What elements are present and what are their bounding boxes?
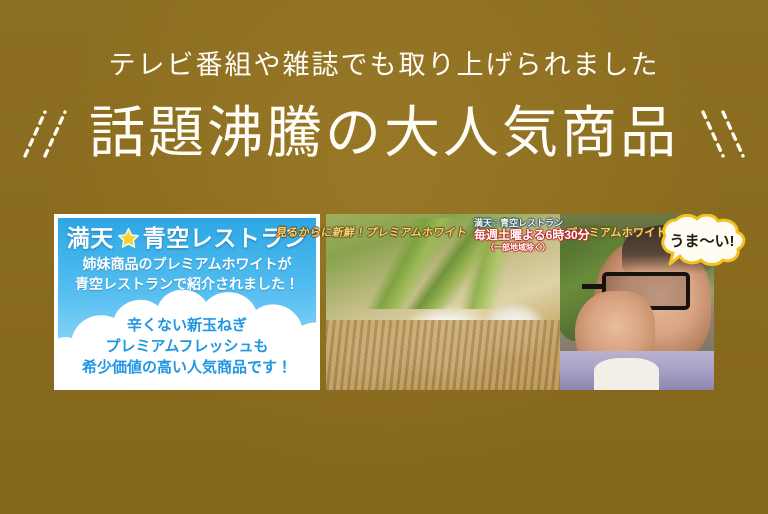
tv-badge-program: 満天☆青空レストラン <box>474 218 562 228</box>
onion-photo-caption: 見るからに新鮮！プレミアムホワイト <box>275 224 469 240</box>
promo-banner: テレビ番組や雑誌でも取り上げられました 話題沸騰の大人気商品 満天 <box>0 0 768 514</box>
bamboo-basket <box>326 320 560 390</box>
person-collar <box>594 358 659 390</box>
program-title-part1: 満天 <box>67 226 114 250</box>
speech-bubble: うま〜い! <box>656 214 748 266</box>
kicker-row: テレビ番組や雑誌でも取り上げられました <box>0 52 768 79</box>
title-row: 話題沸騰の大人気商品 <box>0 104 768 164</box>
tv-badge-time: 毎週土曜よる6時30分 <box>474 229 562 242</box>
panel-subtitle-line1: 姉妹商品のプレミアムホワイトが <box>64 255 310 274</box>
dashed-slash-right-icon <box>697 104 749 164</box>
panel-body-line3: 希少価値の高い人気商品です！ <box>58 357 316 378</box>
panel-subtitle-line2: 青空レストランで紹介されました！ <box>64 275 310 294</box>
program-title: 満天 青空レストラン <box>64 226 310 250</box>
panel-body: 辛くない新玉ねぎ プレミアムフレッシュも 希少価値の高い人気商品です！ <box>58 315 316 378</box>
aozora-restaurant-panel: 満天 青空レストラン 姉妹商品のプレミアムホワイトが 青空レストランで紹介されま… <box>54 214 320 390</box>
page-title: 話題沸騰の大人気商品 <box>89 106 679 162</box>
panel-body-line2: プレミアムフレッシュも <box>58 336 316 357</box>
tv-badge-note: （一部地域除く） <box>474 244 562 253</box>
dashed-slash-left-icon <box>19 104 71 164</box>
panel-body-line1: 辛くない新玉ねぎ <box>58 315 316 336</box>
kicker-text: テレビ番組や雑誌でも取り上げられました <box>0 52 768 79</box>
speech-bubble-text: うま〜い! <box>656 230 748 251</box>
star-icon <box>117 227 140 250</box>
tv-schedule-badge: 満天☆青空レストラン 毎週土曜よる6時30分 （一部地域除く） <box>474 218 562 252</box>
media-strip: 満天 青空レストラン 姉妹商品のプレミアムホワイトが 青空レストランで紹介されま… <box>54 214 714 390</box>
